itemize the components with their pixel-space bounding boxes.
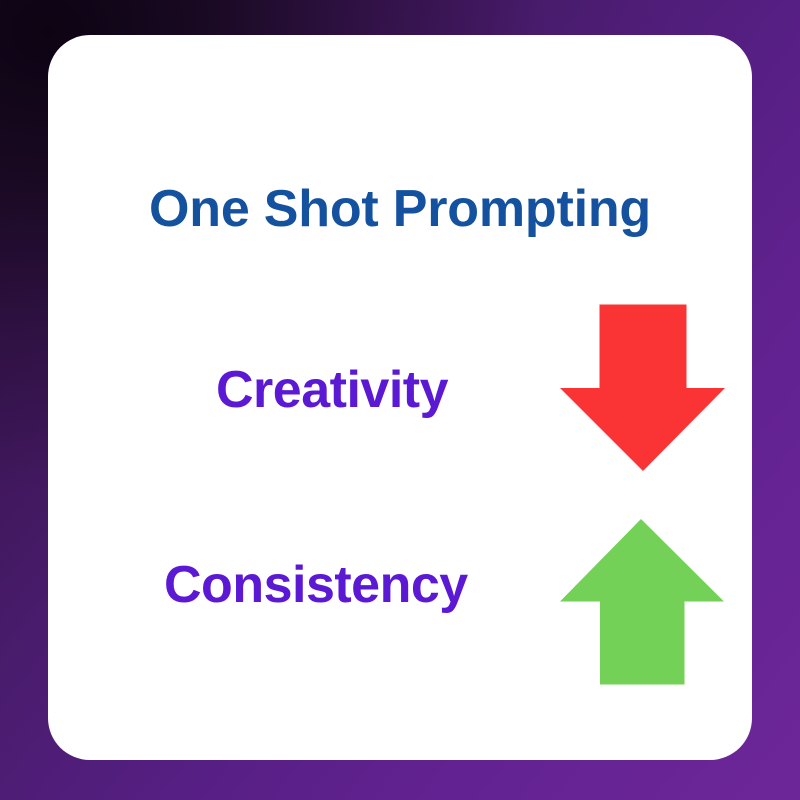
content-card: One Shot Prompting Creativity Consistenc… [48, 35, 752, 760]
down-arrow-icon [553, 300, 733, 476]
page-title: One Shot Prompting [48, 178, 752, 240]
consistency-label: Consistency [164, 554, 468, 616]
up-arrow-icon [554, 515, 730, 689]
slide-canvas: One Shot Prompting Creativity Consistenc… [0, 0, 800, 800]
creativity-label: Creativity [216, 359, 448, 421]
